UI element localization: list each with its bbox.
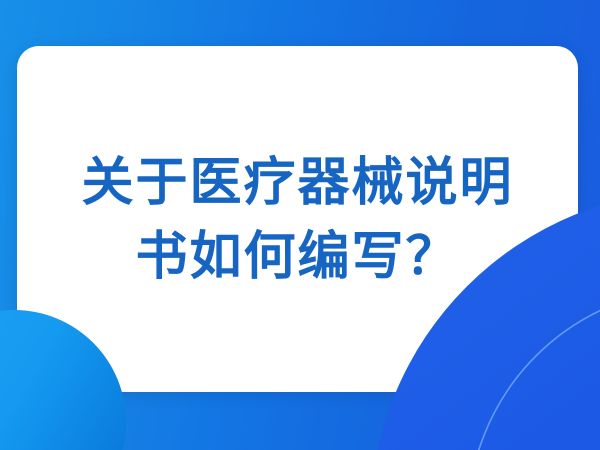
title-block: 关于医疗器械说明 书如何编写？ — [17, 46, 578, 392]
poster-canvas: 关于医疗器械说明 书如何编写？ — [0, 0, 600, 450]
title-line-2: 书如何编写？ — [135, 221, 459, 295]
bottom-left-accent-wedge — [0, 392, 126, 450]
title-line-1: 关于医疗器械说明 — [81, 147, 513, 221]
